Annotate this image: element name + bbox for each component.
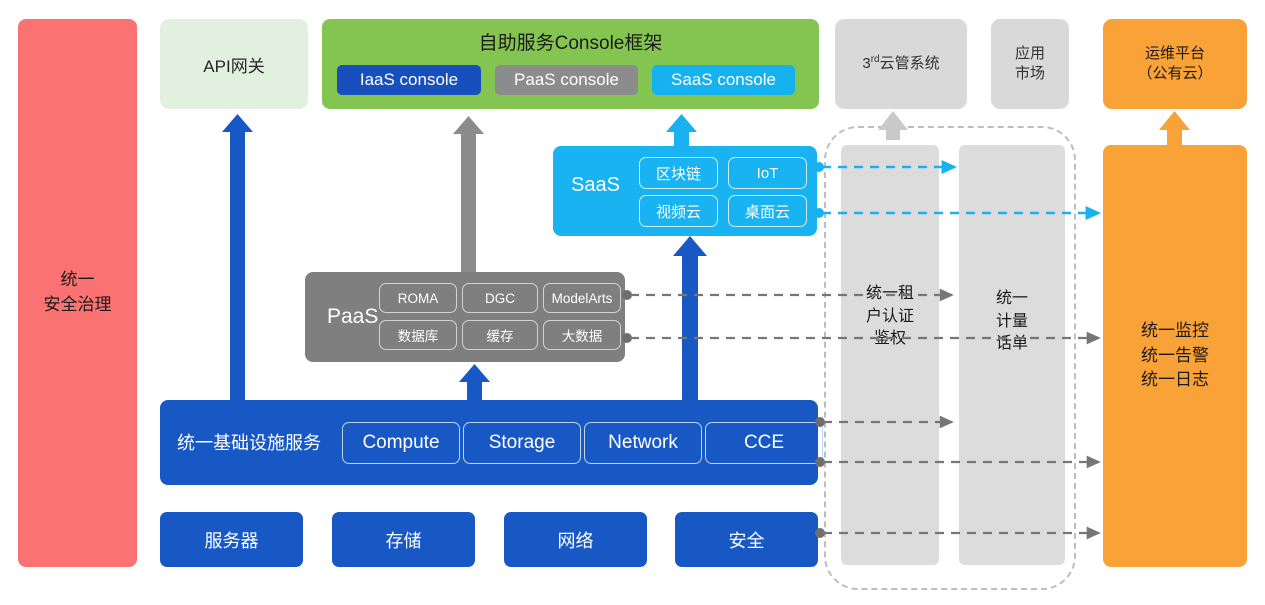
ops-platform-top-line2: （公有云） [1137,64,1212,84]
paas-box[interactable]: PaaS ROMA DGC ModelArts 数据库 缓存 大数据 [305,272,625,362]
tenant-auth-line3: 鉴权 [841,328,939,351]
third-party-label-wrap: 3rd云管系统 [862,53,939,74]
paas-item-cache[interactable]: 缓存 [462,320,538,350]
resource-server-label: 服务器 [205,527,259,553]
paas-item-database[interactable]: 数据库 [379,320,457,350]
infra-item-compute[interactable]: Compute [342,422,460,464]
resource-box-network[interactable]: 网络 [504,512,647,567]
metering-line1: 统一 [959,288,1065,311]
paas-item-dgc-label: DGC [485,291,515,306]
tenant-auth-column[interactable] [841,145,939,565]
arrow-paas-to-console [453,116,484,272]
arrow-infra-to-api-gateway [222,114,253,400]
paas-item-modelarts-label: ModelArts [552,291,613,306]
infra-item-storage[interactable]: Storage [463,422,581,464]
paas-item-bigdata-label: 大数据 [562,325,603,345]
chip-saas-label: SaaS console [671,70,776,90]
ops-side-line2: 统一告警 [1141,344,1209,369]
saas-box[interactable]: SaaS 区块链 IoT 视频云 桌面云 [553,146,817,236]
architecture-diagram: 统一 安全治理 API网关 自助服务Console框架 IaaS console… [0,0,1265,605]
saas-item-blockchain-label: 区块链 [656,163,701,184]
infra-item-compute-label: Compute [362,432,439,454]
paas-item-cache-label: 缓存 [487,325,514,345]
resource-box-security[interactable]: 安全 [675,512,818,567]
metering-line2: 计量 [959,311,1065,334]
security-panel-line2: 安全治理 [44,293,112,318]
ops-platform-top-box[interactable]: 运维平台 （公有云） [1103,19,1247,109]
third-party-label: 云管系统 [880,55,940,72]
saas-label: SaaS [571,174,620,197]
metering-line3: 话单 [959,333,1065,356]
api-gateway-box[interactable]: API网关 [160,19,308,109]
unified-infrastructure-bar[interactable]: 统一基础设施服务 Compute Storage Network CCE [160,400,818,485]
paas-item-roma-label: ROMA [398,291,439,306]
paas-item-modelarts[interactable]: ModelArts [543,283,621,313]
paas-item-database-label: 数据库 [398,325,439,345]
app-market-line2: 市场 [1015,64,1045,84]
chip-paas-label: PaaS console [514,70,619,90]
saas-item-iot[interactable]: IoT [728,157,807,189]
arrow-infra-to-paas [459,364,490,400]
saas-item-videocloud-label: 视频云 [656,201,701,222]
paas-item-dgc[interactable]: DGC [462,283,538,313]
infra-item-cce[interactable]: CCE [705,422,823,464]
chip-iaas-console[interactable]: IaaS console [337,65,481,95]
saas-item-desktopcloud-label: 桌面云 [745,201,790,222]
arrow-infra-to-saas [673,236,707,400]
infra-item-network[interactable]: Network [584,422,702,464]
ops-platform-side-panel[interactable]: 统一监控 统一告警 统一日志 [1103,145,1247,567]
arrow-ops-side-to-ops-top [1159,111,1190,146]
infra-item-storage-label: Storage [489,432,556,454]
third-party-sup: rd [871,54,880,65]
resource-box-storage[interactable]: 存储 [332,512,475,567]
app-market-line1: 应用 [1015,44,1045,64]
metering-billing-column-label: 统一 计量 话单 [959,288,1065,356]
chip-iaas-label: IaaS console [360,70,458,90]
infra-item-cce-label: CCE [744,432,784,454]
resource-security-label: 安全 [729,527,765,553]
chip-paas-console[interactable]: PaaS console [495,65,638,95]
ops-platform-top-line1: 运维平台 [1145,44,1205,64]
saas-item-videocloud[interactable]: 视频云 [639,195,718,227]
tenant-auth-line1: 统一租 [841,283,939,306]
security-panel-line1: 统一 [61,268,95,293]
infra-item-network-label: Network [608,432,678,454]
ops-side-line1: 统一监控 [1141,319,1209,344]
chip-saas-console[interactable]: SaaS console [652,65,795,95]
tenant-auth-line2: 户认证 [841,306,939,329]
third-party-cloud-mgmt-box[interactable]: 3rd云管系统 [835,19,967,109]
paas-label: PaaS [327,305,378,329]
console-framework-box[interactable]: 自助服务Console框架 IaaS console PaaS console … [322,19,819,109]
saas-item-desktopcloud[interactable]: 桌面云 [728,195,807,227]
ops-side-line3: 统一日志 [1141,368,1209,393]
paas-item-bigdata[interactable]: 大数据 [543,320,621,350]
console-framework-title: 自助服务Console框架 [322,28,819,55]
resource-network-label: 网络 [558,527,594,553]
app-market-box[interactable]: 应用 市场 [991,19,1069,109]
api-gateway-label: API网关 [203,52,264,77]
tenant-auth-column-label: 统一租 户认证 鉴权 [841,283,939,351]
paas-item-roma[interactable]: ROMA [379,283,457,313]
third-party-prefix: 3 [862,55,870,72]
saas-item-iot-label: IoT [757,165,779,182]
saas-item-blockchain[interactable]: 区块链 [639,157,718,189]
security-governance-panel[interactable]: 统一 安全治理 [18,19,137,567]
resource-storage-label: 存储 [386,527,422,553]
resource-box-server[interactable]: 服务器 [160,512,303,567]
infra-label: 统一基础设施服务 [177,429,321,455]
arrow-saas-to-console [666,114,697,148]
